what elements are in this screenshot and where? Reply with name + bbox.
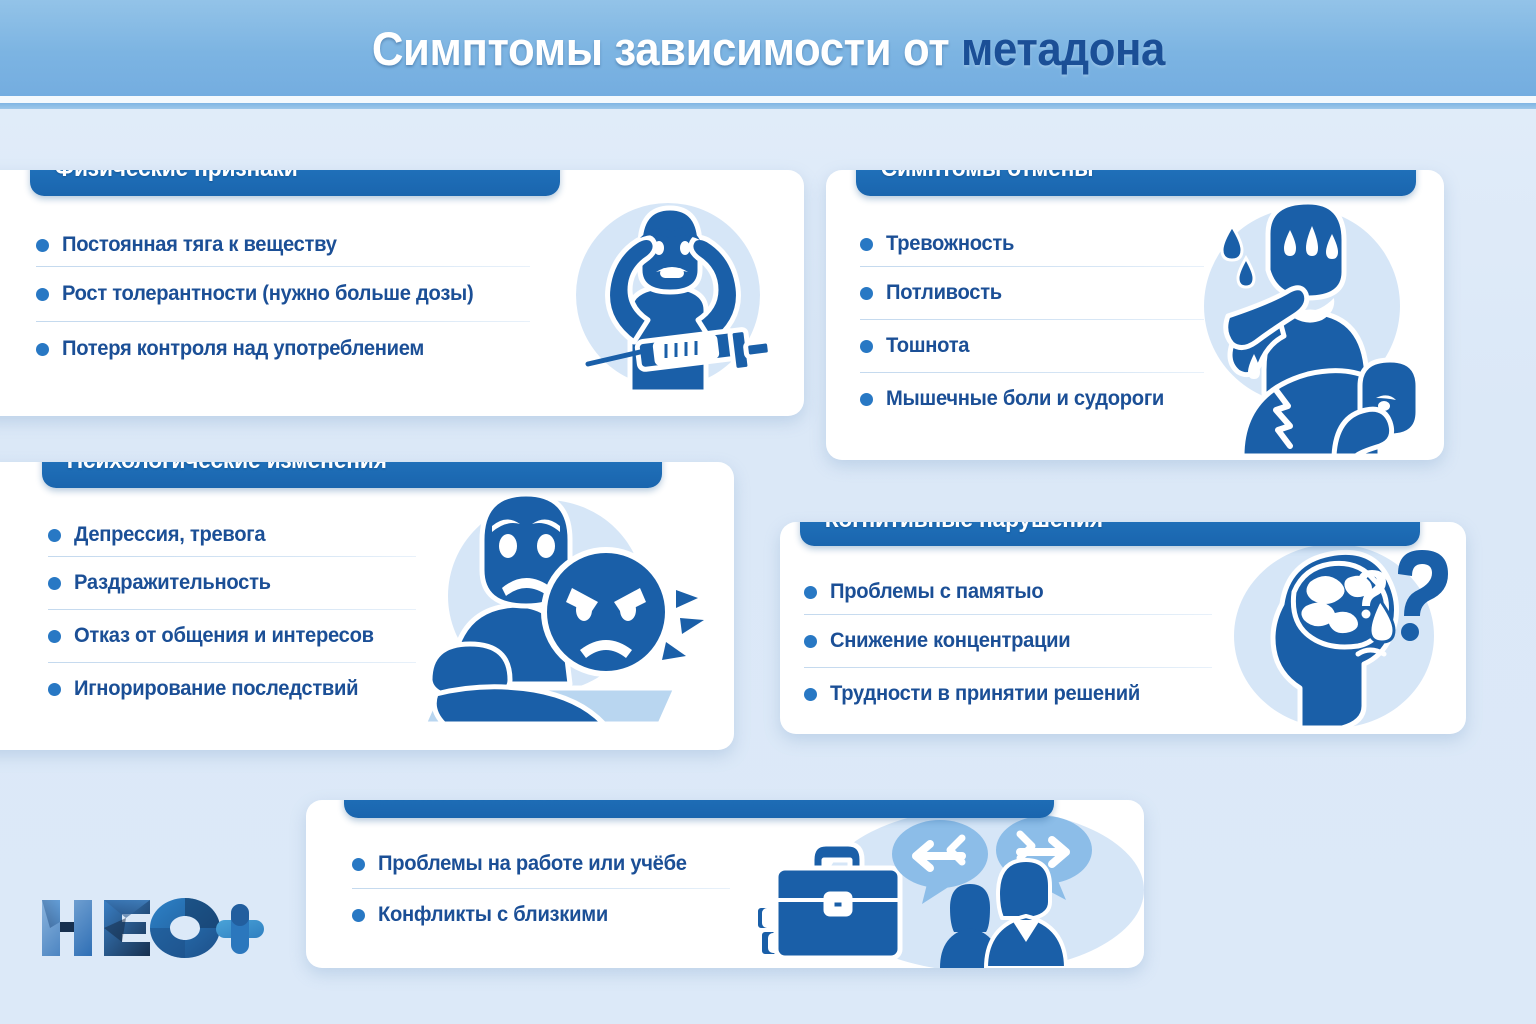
list-item: Потливость [860, 267, 1230, 319]
head-with-brain-and-question-marks-icon [1222, 538, 1452, 734]
bullet-icon [860, 287, 873, 300]
list-physical-signs: Постоянная тяга к веществу Рост толерант… [36, 224, 536, 376]
list-item-label: Раздражительность [74, 571, 271, 595]
list-item-label: Конфликты с близкими [378, 903, 608, 927]
card-header-badge-withdrawal: Симптомы отмены [856, 170, 1416, 196]
bullet-icon [48, 683, 61, 696]
list-item: Постоянная тяга к веществу [36, 224, 536, 266]
card-header-badge-cognitive: Когнитивные нарушения [800, 522, 1420, 546]
bullet-icon [804, 586, 817, 599]
list-item-label: Тошнота [886, 334, 969, 358]
list-item: Отказ от общения и интересов [48, 610, 438, 662]
page-header: Симптомы зависимости от метадона [0, 0, 1536, 96]
card-title-physical: Физические признаки [30, 170, 298, 183]
neo-plus-logo [30, 884, 266, 968]
card-header-badge-psychological: Психологические изменения [42, 462, 662, 488]
list-item: Раздражительность [48, 557, 438, 609]
list-item-label: Рост толерантности (нужно больше дозы) [62, 282, 473, 306]
list-item-label: Постоянная тяга к веществу [62, 233, 337, 257]
card-psychological-changes: Психологические изменения Депрессия, тре… [0, 462, 734, 750]
list-psychological-changes: Депрессия, тревога Раздражительность Отк… [48, 514, 438, 715]
list-item-label: Отказ от общения и интересов [74, 624, 374, 648]
list-cognitive-impairment: Проблемы с памятыо Снижение концентрации… [804, 570, 1234, 720]
list-item-label: Трудности в принятии решений [830, 682, 1140, 706]
list-item-label: Мышечные боли и судороги [886, 387, 1164, 411]
card-life-impact: Влияние на жизнь Проблемы на работе или … [306, 800, 1144, 968]
card-header-badge-physical: Физические признаки [30, 170, 560, 196]
list-item: Конфликты с близкими [352, 889, 742, 941]
list-item: Депрессия, тревога [48, 514, 438, 556]
briefcase-books-and-arguing-people-icon [754, 802, 1144, 968]
card-title-cognitive: Когнитивные нарушения [800, 522, 1103, 534]
list-item-label: Проблемы на работе или учёбе [378, 852, 687, 876]
bullet-icon [36, 343, 49, 356]
page-title: Симптомы зависимости от метадона [371, 21, 1164, 76]
page-title-accent: метадона [961, 22, 1165, 75]
card-title-withdrawal: Симптомы отмены [856, 170, 1093, 183]
list-life-impact: Проблемы на работе или учёбе Конфликты с… [352, 840, 742, 941]
card-withdrawal-symptoms: Симптомы отмены Тревожность Потливость Т… [826, 170, 1444, 460]
bullet-icon [860, 238, 873, 251]
bullet-icon [804, 635, 817, 648]
bullet-icon [48, 577, 61, 590]
list-item: Рост толерантности (нужно больше дозы) [36, 267, 536, 321]
list-item-label: Снижение концентрации [830, 629, 1070, 653]
header-divider-white [0, 96, 1536, 103]
list-item: Снижение концентрации [804, 615, 1234, 667]
bullet-icon [48, 630, 61, 643]
list-item-label: Депрессия, тревога [74, 523, 265, 547]
sad-and-angry-faces-icon [414, 484, 704, 724]
list-withdrawal-symptoms: Тревожность Потливость Тошнота Мышечные … [860, 222, 1230, 425]
card-header-badge-life: Влияние на жизнь [344, 800, 1054, 818]
bullet-icon [352, 909, 365, 922]
list-item-label: Потливость [886, 281, 1002, 305]
bullet-icon [860, 340, 873, 353]
page-title-main: Симптомы зависимости от [371, 22, 960, 75]
bullet-icon [36, 239, 49, 252]
list-item: Проблемы с памятыо [804, 570, 1234, 614]
list-item: Игнорирование последствий [48, 663, 438, 715]
bullet-icon [36, 288, 49, 301]
stressed-person-with-syringe-icon [560, 192, 790, 392]
bullet-icon [804, 688, 817, 701]
bullet-icon [352, 858, 365, 871]
list-item: Потеря контроля над употреблением [36, 322, 536, 376]
bullet-icon [48, 529, 61, 542]
card-title-life: Влияние на жизнь [344, 800, 573, 805]
card-title-psychological: Психологические изменения [42, 462, 387, 475]
list-item-label: Тревожность [886, 232, 1014, 256]
header-divider-blue [0, 103, 1536, 109]
card-cognitive-impairment: Когнитивные нарушения Проблемы с памятыо… [780, 522, 1466, 734]
card-physical-signs: Физические признаки Постоянная тяга к ве… [0, 170, 804, 416]
list-item: Тошнота [860, 320, 1230, 372]
list-item: Проблемы на работе или учёбе [352, 840, 742, 888]
list-item: Тревожность [860, 222, 1230, 266]
list-item-label: Проблемы с памятыо [830, 580, 1043, 604]
list-item: Мышечные боли и судороги [860, 373, 1230, 425]
list-item: Трудности в принятии решений [804, 668, 1234, 720]
list-item-label: Игнорирование последствий [74, 677, 358, 701]
list-item-label: Потеря контроля над употреблением [62, 337, 424, 361]
bullet-icon [860, 393, 873, 406]
